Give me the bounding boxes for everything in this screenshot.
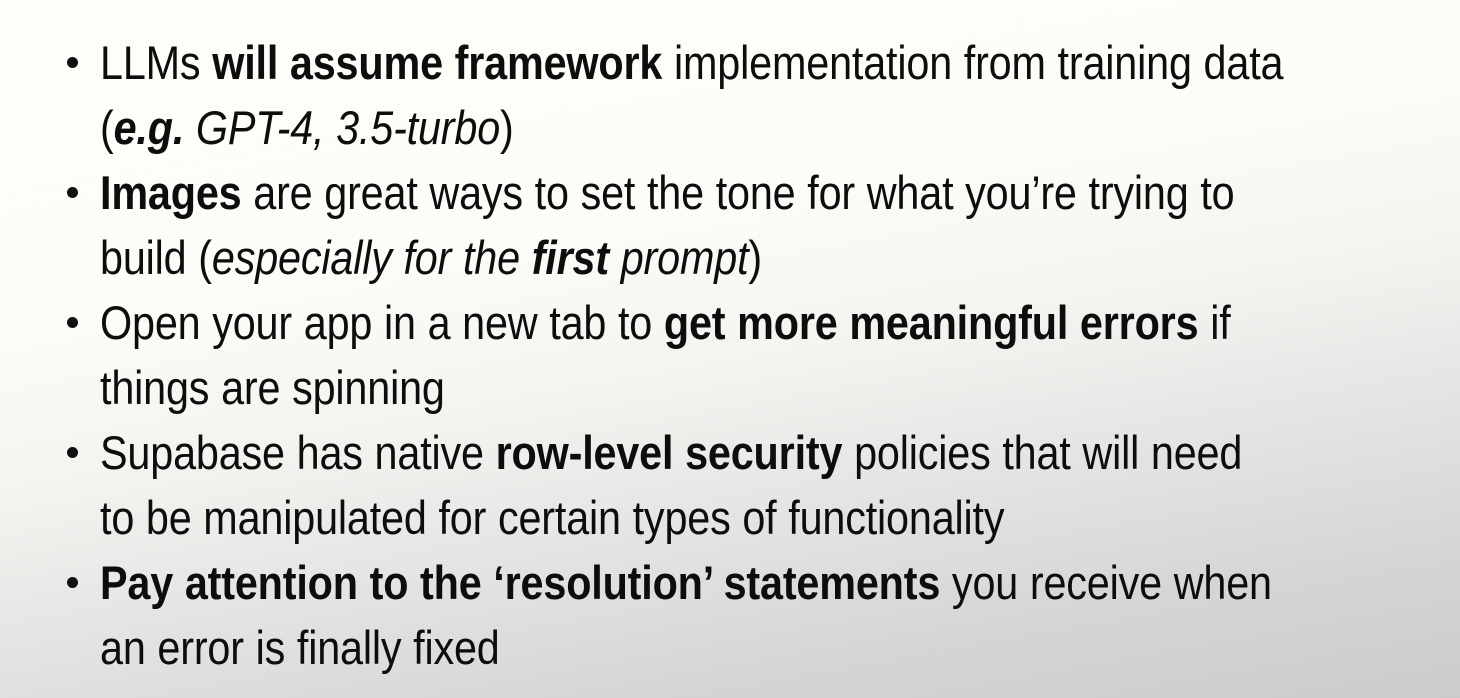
bullet-supabase-rls: Supabase has native row-level security p… (58, 420, 1446, 550)
text-run-normal: Open your app in a new tab to (100, 296, 664, 349)
text-run-bold: row-level security (496, 426, 843, 479)
text-run-normal: Supabase has native (100, 426, 496, 479)
bullet-resolution-statements: Pay attention to the ‘resolution’ statem… (58, 550, 1446, 680)
text-run-italic: especially for the (212, 231, 532, 284)
bullet-dot-icon (67, 577, 78, 588)
bullet-list: LLMs will assume framework implementatio… (58, 30, 1446, 680)
bullet-llms-assume-framework: LLMs will assume framework implementatio… (58, 30, 1446, 160)
text-run-bold: get more meaningful errors (664, 296, 1199, 349)
bullet-text: Images are great ways to set the tone fo… (100, 160, 1284, 290)
bullet-open-app-new-tab: Open your app in a new tab to get more m… (58, 290, 1446, 420)
bullet-text: Open your app in a new tab to get more m… (100, 290, 1284, 420)
bullet-dot-icon (67, 317, 78, 328)
text-run-normal: ) (500, 101, 514, 154)
bullet-dot-icon (67, 447, 78, 458)
text-run-bold-italic: e.g. (114, 101, 185, 154)
presentation-slide: LLMs will assume framework implementatio… (0, 0, 1460, 698)
bullet-text: Supabase has native row-level security p… (100, 420, 1284, 550)
bullet-images-set-tone: Images are great ways to set the tone fo… (58, 160, 1446, 290)
text-run-bold: Pay attention to the ‘resolution’ statem… (100, 556, 940, 609)
text-run-italic: prompt (609, 231, 748, 284)
bullet-text: LLMs will assume framework implementatio… (100, 30, 1284, 160)
text-run-bold: will assume framework (212, 36, 662, 89)
bullet-dot-icon (67, 187, 78, 198)
bullet-dot-icon (67, 57, 78, 68)
text-run-italic: GPT-4, 3.5-turbo (184, 101, 500, 154)
text-run-bold-italic: first (532, 231, 609, 284)
text-run-bold: Images (100, 166, 241, 219)
text-run-normal: ) (748, 231, 762, 284)
text-run-normal: LLMs (100, 36, 212, 89)
bullet-text: Pay attention to the ‘resolution’ statem… (100, 550, 1284, 680)
